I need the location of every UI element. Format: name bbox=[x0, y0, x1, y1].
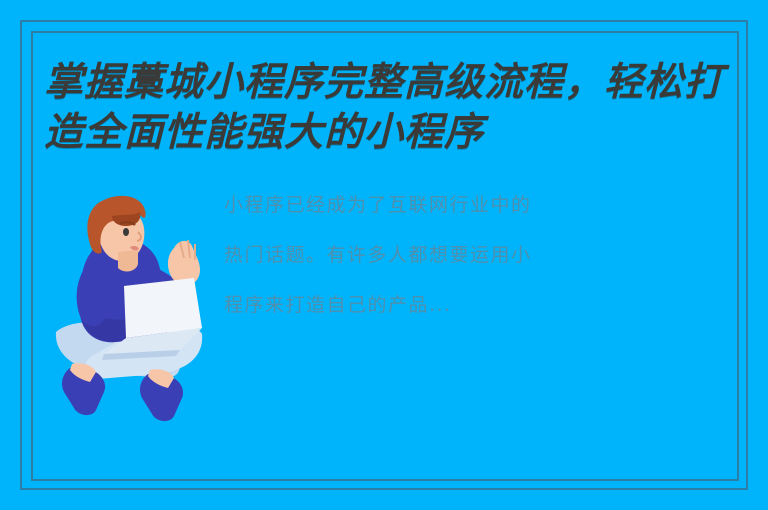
article-card: 掌握藁城小程序完整高级流程，轻松打造全面性能强大的小程序 小程序已经成为了互联网… bbox=[0, 0, 768, 510]
laptop-screen bbox=[124, 278, 202, 338]
page-title: 掌握藁城小程序完整高级流程，轻松打造全面性能强大的小程序 bbox=[44, 57, 734, 157]
eye bbox=[123, 228, 129, 236]
article-excerpt: 小程序已经成为了互联网行业中的热门话题。有许多人都想要运用小程序来打造自己的产品… bbox=[224, 180, 534, 330]
neck bbox=[118, 250, 138, 271]
person-sitting-with-laptop-illustration bbox=[52, 192, 208, 428]
